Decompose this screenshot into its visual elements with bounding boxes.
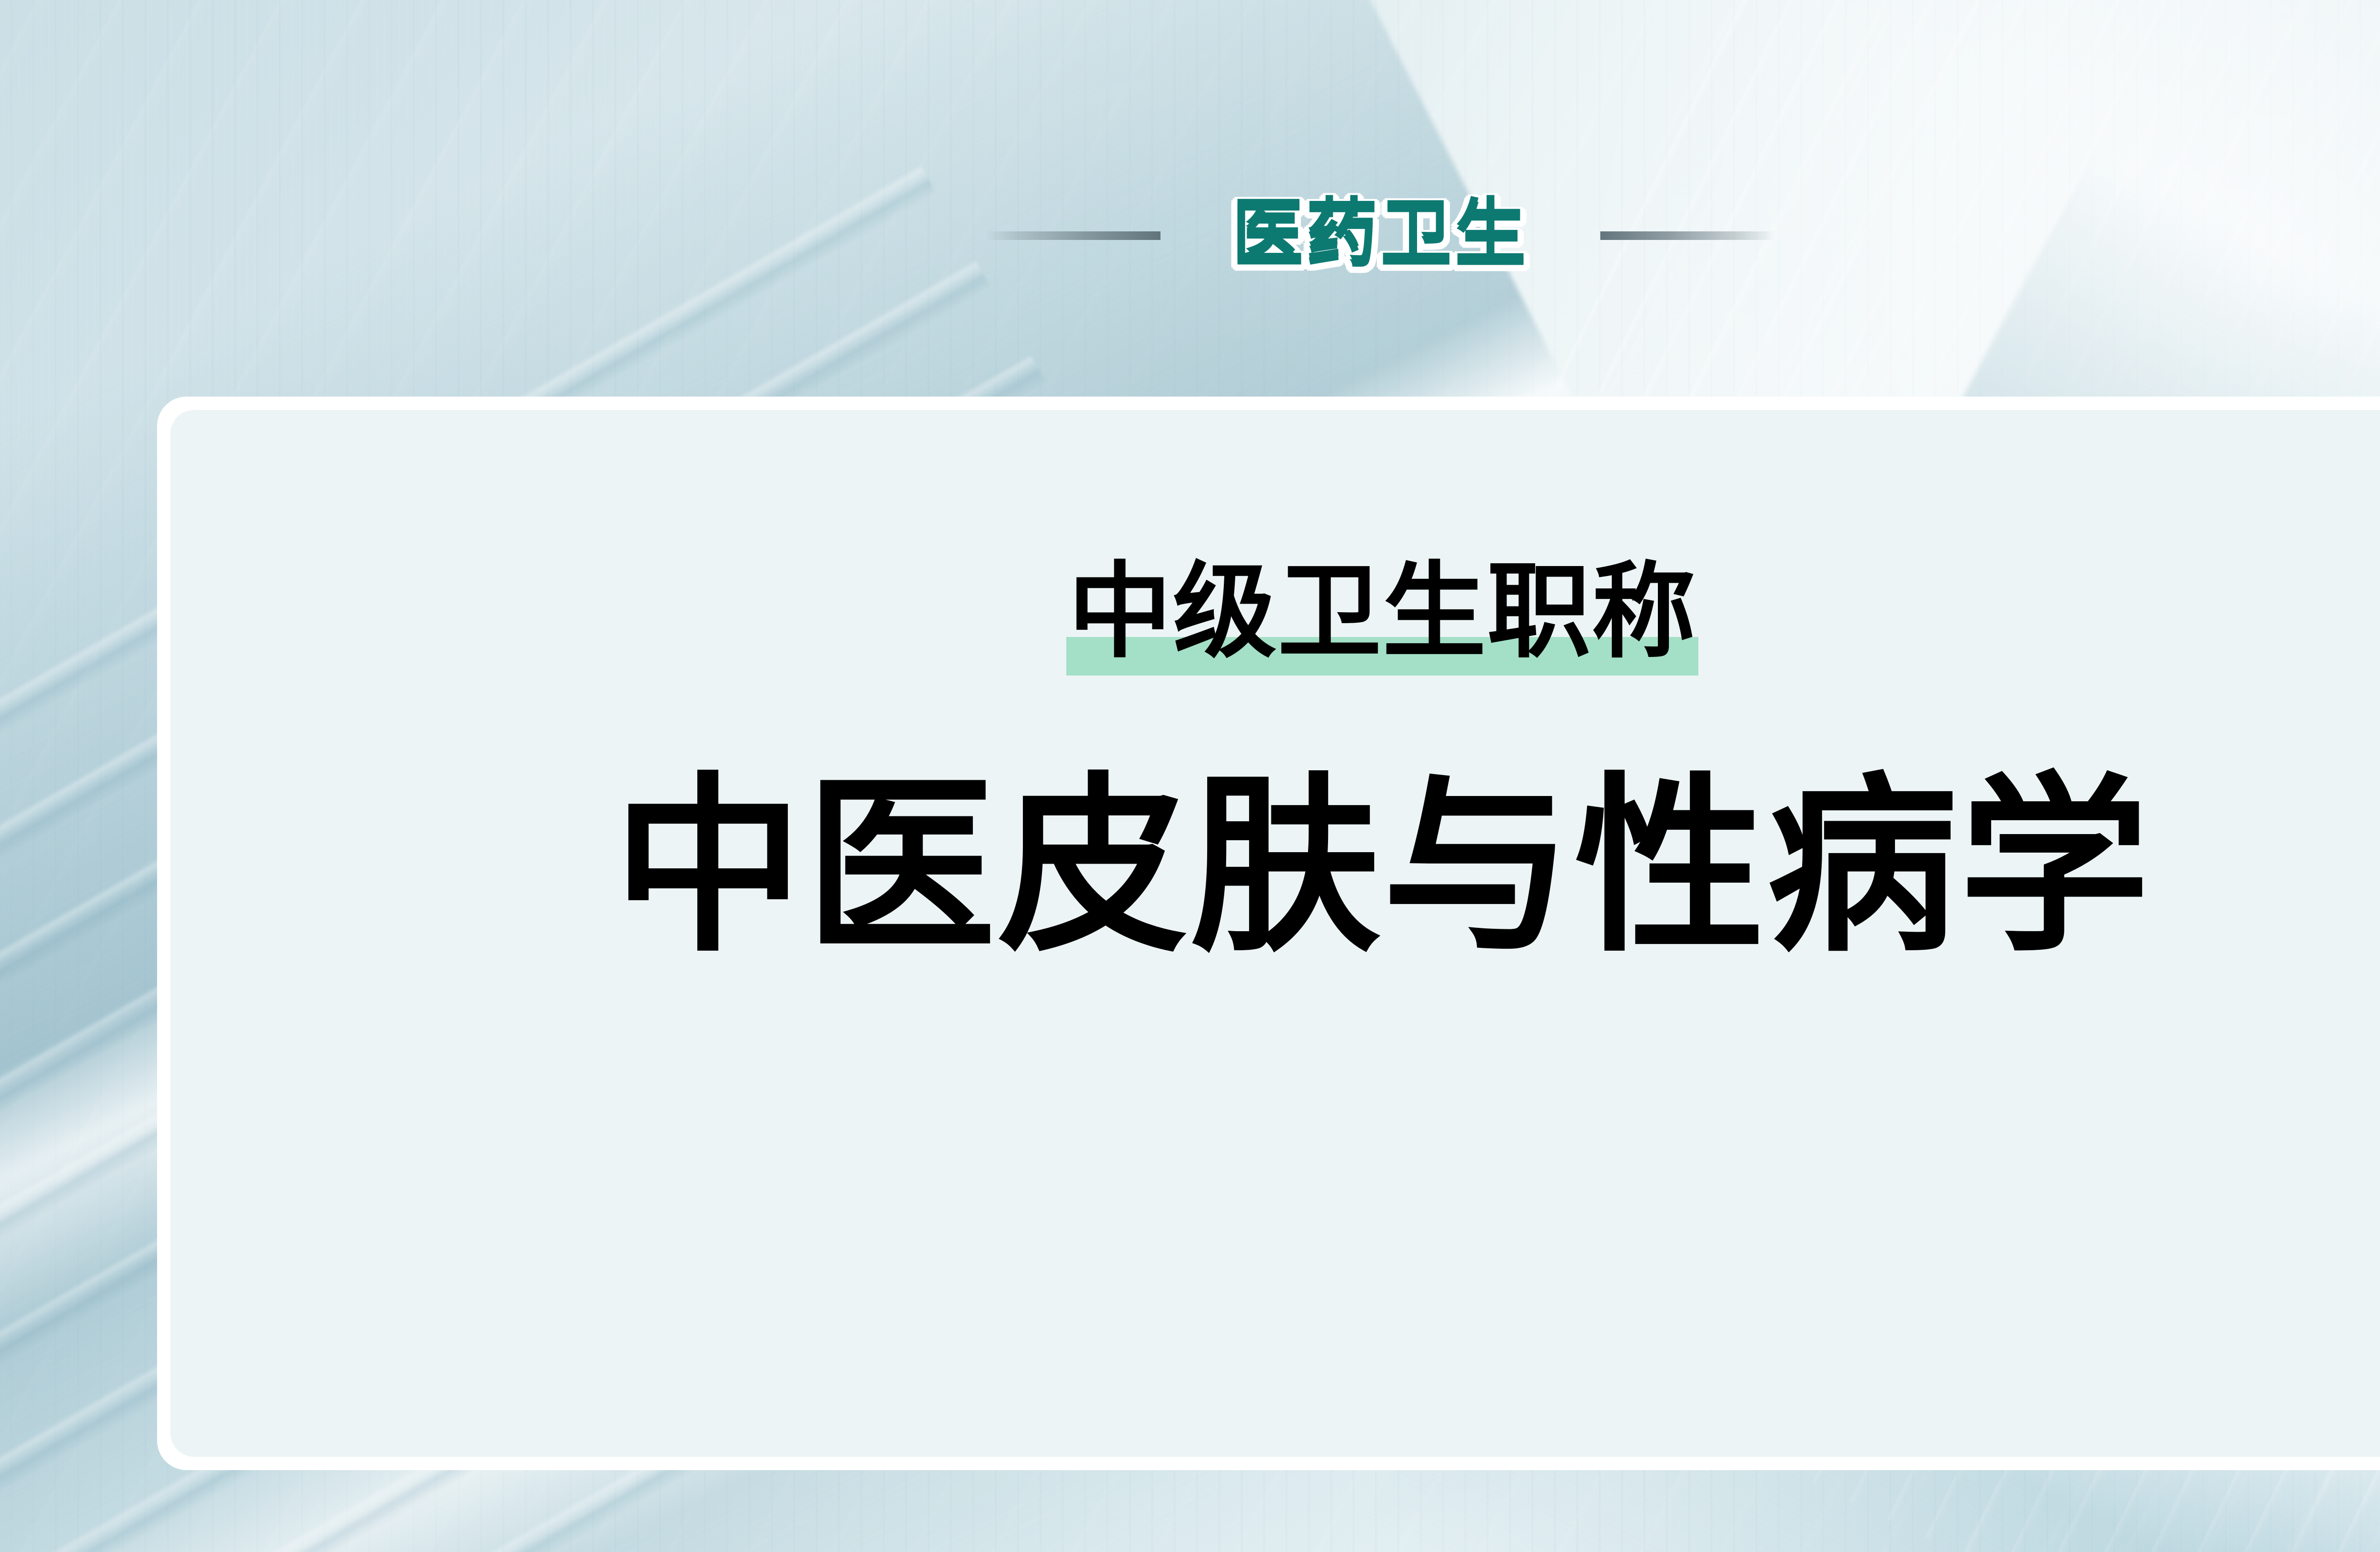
title-card-panel: 中级卫生职称 中医皮肤与性病学 [170,410,2380,1457]
category-kicker-label: 医药卫生 [1232,196,1529,276]
main-title-row: 中医皮肤与性病学 [170,743,2380,991]
header-rule-left-icon [985,231,1160,240]
title-card: 中级卫生职称 中医皮肤与性病学 [157,397,2380,1470]
subtitle-label: 中级卫生职称 [1068,554,1696,670]
subtitle-block: 中级卫生职称 [1065,560,1699,664]
category-kicker: 医药卫生 [1232,200,1529,271]
subtitle-row: 中级卫生职称 [170,541,2380,684]
main-title-label: 中医皮肤与性病学 [613,772,2152,962]
header-band: 医药卫生 [0,157,2380,314]
slide-root: 医药卫生 中级卫生职称 中医皮肤与性病学 [0,0,2380,1552]
header-rule-right-icon [1600,231,1775,240]
